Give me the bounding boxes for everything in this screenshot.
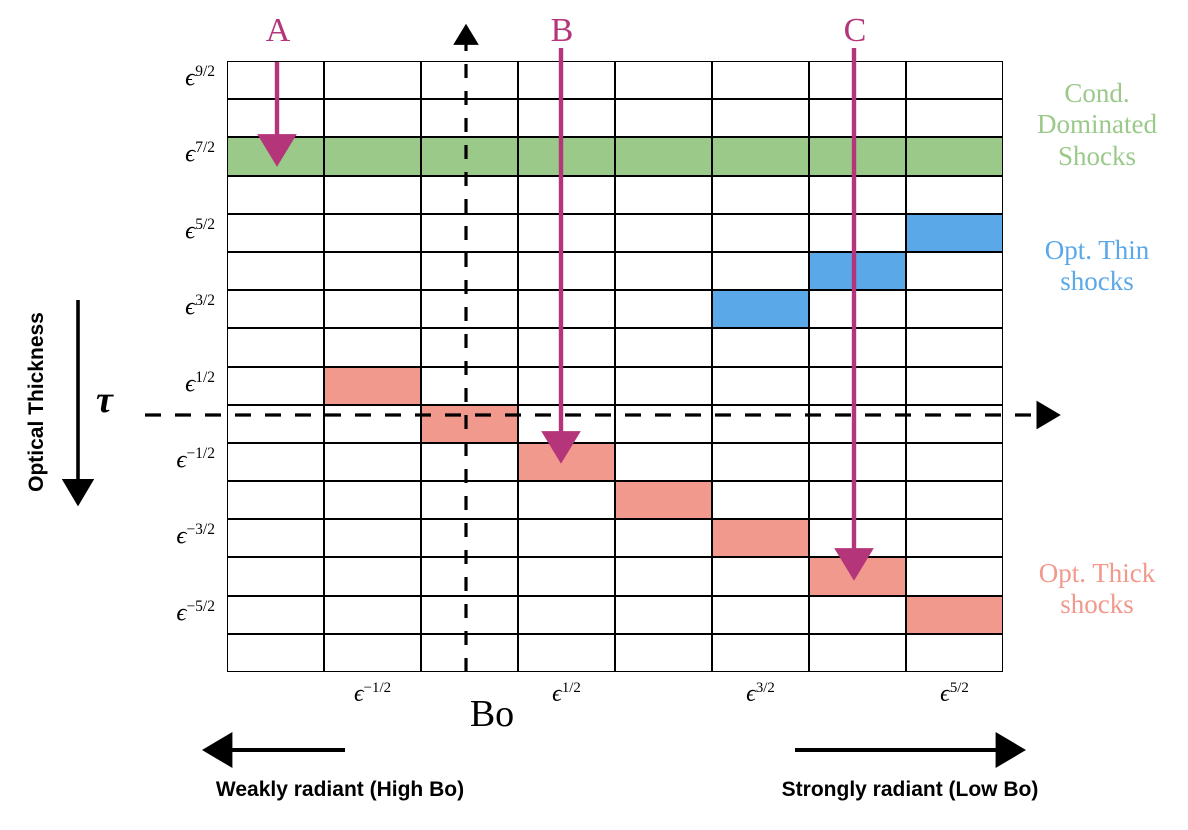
grid-cell	[906, 99, 1003, 137]
grid-cell	[615, 443, 712, 481]
y-axis-symbol: τ	[96, 378, 113, 422]
y-tick-label: ϵ1/2	[185, 369, 215, 398]
grid-cell	[518, 214, 615, 252]
grid-cell	[227, 367, 324, 405]
grid-cell	[712, 443, 809, 481]
grid-cell	[712, 634, 809, 672]
grid-cell	[809, 596, 906, 634]
grid-cell	[712, 367, 809, 405]
grid-cell	[906, 405, 1003, 443]
grid-cell	[906, 481, 1003, 519]
grid-cell	[324, 634, 421, 672]
grid-cell	[324, 290, 421, 328]
grid-cell	[518, 252, 615, 290]
grid-cell-filled	[906, 214, 1003, 252]
grid-cell	[906, 176, 1003, 214]
grid-cell	[421, 634, 518, 672]
grid-cell	[615, 214, 712, 252]
grid-cell	[518, 557, 615, 595]
grid-cell	[906, 443, 1003, 481]
grid-cell	[227, 252, 324, 290]
grid-cell	[809, 519, 906, 557]
grid-cell	[227, 519, 324, 557]
grid-cell	[324, 328, 421, 366]
grid-cell	[421, 214, 518, 252]
grid-cell	[518, 328, 615, 366]
grid-cell	[227, 481, 324, 519]
grid-cell	[518, 596, 615, 634]
grid-cell	[809, 443, 906, 481]
grid-cell	[906, 557, 1003, 595]
marker-label-a: A	[247, 12, 309, 50]
x-axis-title: Bo	[432, 692, 552, 736]
legend-opt-thick: Opt. Thick shocks	[1008, 558, 1186, 621]
marker-label-b: B	[531, 12, 593, 50]
grid-cell	[518, 99, 615, 137]
grid-cell	[615, 405, 712, 443]
grid-cell	[809, 481, 906, 519]
grid-cell	[712, 214, 809, 252]
grid-cell-filled	[906, 137, 1003, 175]
grid-cell-filled	[712, 137, 809, 175]
grid-cell	[712, 328, 809, 366]
grid-cell	[227, 328, 324, 366]
grid-cell	[421, 367, 518, 405]
grid-cell	[615, 634, 712, 672]
grid-cell	[324, 252, 421, 290]
grid-cell	[712, 252, 809, 290]
grid-cell	[227, 176, 324, 214]
grid-cell	[615, 99, 712, 137]
grid-cell	[518, 176, 615, 214]
grid-cell	[227, 214, 324, 252]
grid-cell	[518, 405, 615, 443]
grid-cell	[906, 252, 1003, 290]
y-tick-label: ϵ−1/2	[176, 445, 215, 474]
grid-cell	[712, 557, 809, 595]
grid-cell	[324, 443, 421, 481]
grid-cell-filled	[518, 137, 615, 175]
grid-cell	[518, 290, 615, 328]
grid-cell	[421, 596, 518, 634]
grid-cell	[906, 328, 1003, 366]
grid-cell-filled	[712, 290, 809, 328]
grid-cell-filled	[518, 443, 615, 481]
grid-cell	[809, 176, 906, 214]
grid-cell-filled	[324, 367, 421, 405]
x-tick-label: ϵ−1/2	[313, 680, 433, 708]
grid-cell	[227, 290, 324, 328]
grid-cell	[421, 519, 518, 557]
grid-cell	[518, 61, 615, 99]
grid-cell	[712, 405, 809, 443]
y-tick-label: ϵ7/2	[185, 139, 215, 168]
grid-cell	[324, 596, 421, 634]
grid-cell	[324, 557, 421, 595]
x-tick-label: ϵ3/2	[701, 680, 821, 708]
grid-cell-filled	[324, 137, 421, 175]
grid-cell	[809, 290, 906, 328]
grid-cell	[227, 443, 324, 481]
grid-cell	[615, 519, 712, 557]
grid-cell	[421, 176, 518, 214]
grid-cell-filled	[712, 519, 809, 557]
grid-cell	[227, 61, 324, 99]
grid-cell	[906, 367, 1003, 405]
grid-cell	[712, 596, 809, 634]
grid-cell	[324, 176, 421, 214]
grid-cell	[712, 61, 809, 99]
grid-cell	[615, 61, 712, 99]
grid-cell	[809, 99, 906, 137]
grid-cell	[227, 557, 324, 595]
grid-cell	[421, 328, 518, 366]
grid-cell	[227, 596, 324, 634]
y-tick-label: ϵ9/2	[185, 63, 215, 92]
grid-cell	[906, 61, 1003, 99]
grid-cell-filled	[421, 405, 518, 443]
grid-cell	[518, 481, 615, 519]
grid-cell	[421, 481, 518, 519]
grid-cell	[615, 328, 712, 366]
grid-cell	[809, 367, 906, 405]
grid-cell	[615, 290, 712, 328]
grid-cell	[906, 290, 1003, 328]
grid-cell	[227, 634, 324, 672]
grid-cell	[421, 557, 518, 595]
legend-opt-thin: Opt. Thin shocks	[1008, 235, 1186, 298]
caption-strongly-radiant: Strongly radiant (Low Bo)	[700, 778, 1120, 802]
y-tick-label: ϵ3/2	[185, 292, 215, 321]
figure-canvas: ϵ9/2ϵ7/2ϵ5/2ϵ3/2ϵ1/2ϵ−1/2ϵ−3/2ϵ−5/2 ϵ−1/…	[0, 0, 1188, 830]
grid-cell	[809, 634, 906, 672]
y-tick-label: ϵ5/2	[185, 216, 215, 245]
grid-cell	[615, 557, 712, 595]
grid-cell	[712, 481, 809, 519]
grid-cell	[615, 596, 712, 634]
grid-cell	[324, 99, 421, 137]
regime-grid	[227, 61, 1003, 672]
grid-cell-filled	[809, 252, 906, 290]
grid-cell-filled	[906, 596, 1003, 634]
grid-cell	[518, 634, 615, 672]
grid-cell	[421, 443, 518, 481]
y-axis-title: Optical Thickness	[25, 302, 49, 502]
grid-cell	[518, 367, 615, 405]
grid-cell	[809, 405, 906, 443]
grid-cell	[906, 519, 1003, 557]
grid-cell-filled	[809, 557, 906, 595]
grid-cell	[421, 290, 518, 328]
marker-label-c: C	[824, 12, 886, 50]
grid-cell	[324, 405, 421, 443]
grid-cell	[615, 367, 712, 405]
y-tick-label: ϵ−3/2	[176, 521, 215, 550]
grid-cell-filled	[421, 137, 518, 175]
grid-cell-filled	[615, 481, 712, 519]
grid-cell	[712, 99, 809, 137]
grid-cell	[324, 214, 421, 252]
grid-cell	[809, 328, 906, 366]
grid-cell	[712, 176, 809, 214]
grid-cell-filled	[615, 137, 712, 175]
caption-weakly-radiant: Weakly radiant (High Bo)	[130, 778, 550, 802]
grid-cell	[421, 99, 518, 137]
grid-cell	[518, 519, 615, 557]
grid-cell	[906, 634, 1003, 672]
grid-cell	[324, 481, 421, 519]
grid-cell	[324, 519, 421, 557]
grid-cell	[324, 61, 421, 99]
grid-cell	[615, 252, 712, 290]
grid-cell-filled	[809, 137, 906, 175]
grid-cell	[809, 61, 906, 99]
legend-cond-dominated: Cond. Dominated Shocks	[1008, 78, 1186, 172]
grid-cell	[421, 61, 518, 99]
y-tick-label: ϵ−5/2	[176, 598, 215, 627]
grid-cell	[809, 214, 906, 252]
grid-cell	[615, 176, 712, 214]
x-tick-label: ϵ5/2	[895, 680, 1015, 708]
grid-cell	[227, 99, 324, 137]
grid-cell-filled	[227, 137, 324, 175]
grid-cell	[227, 405, 324, 443]
grid-cell	[421, 252, 518, 290]
